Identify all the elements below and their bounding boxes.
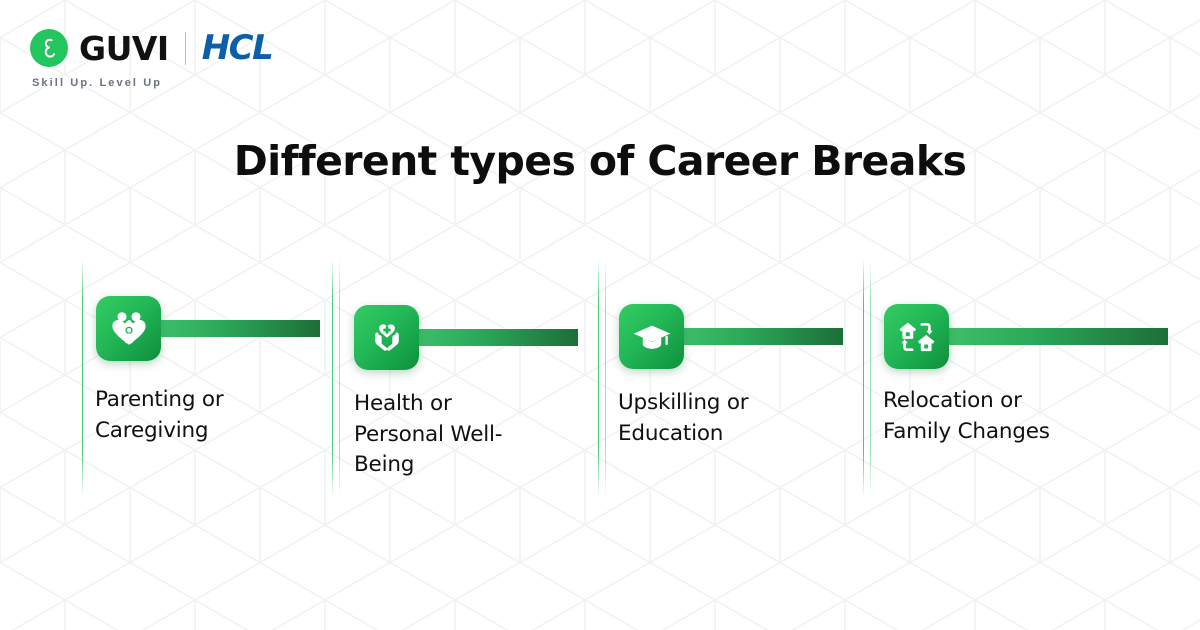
guvi-g-circle-icon xyxy=(30,29,68,67)
item-label-line: Upskilling or xyxy=(618,388,838,419)
column-divider-secondary xyxy=(605,258,606,498)
relocation-two-houses-arrows-icon xyxy=(884,304,949,369)
item-label-line: Relocation or xyxy=(883,386,1133,417)
column-divider xyxy=(332,258,333,498)
family-parenting-heart-icon xyxy=(96,296,161,361)
item-label-line: Personal Well- xyxy=(354,420,554,451)
item-label-line: Being xyxy=(354,450,554,481)
brand-header: GUVI HCL Skill Up. Level Up xyxy=(30,26,272,89)
item-icon-row xyxy=(96,296,320,361)
item-label: Parenting or Caregiving xyxy=(95,385,320,446)
item-label-line: Education xyxy=(618,419,838,450)
item-label: Relocation or Family Changes xyxy=(883,386,1133,447)
column-divider xyxy=(82,258,83,498)
career-break-types-list: Parenting or Caregiving xyxy=(0,0,1200,630)
hcl-wordmark: HCL xyxy=(202,31,273,65)
item-icon-row xyxy=(884,304,1168,369)
item-label: Upskilling or Education xyxy=(618,388,838,449)
item-bar xyxy=(680,328,843,345)
graduation-cap-icon xyxy=(619,304,684,369)
logo-divider xyxy=(185,32,186,65)
item-label-line: Parenting or xyxy=(95,385,320,416)
column-divider xyxy=(598,258,599,498)
item-label-line: Health or xyxy=(354,389,554,420)
column-divider xyxy=(863,258,864,498)
infographic-canvas: GUVI HCL Skill Up. Level Up Different ty… xyxy=(0,0,1200,630)
item-label-line: Family Changes xyxy=(883,417,1133,448)
item-label: Health or Personal Well- Being xyxy=(354,389,554,481)
column-divider-secondary xyxy=(339,258,340,498)
brand-tagline: Skill Up. Level Up xyxy=(32,77,272,89)
item-bar xyxy=(157,320,320,337)
item-bar xyxy=(945,328,1168,345)
guvi-wordmark: GUVI xyxy=(79,32,169,65)
column-divider-secondary xyxy=(870,258,871,498)
page-title: Different types of Career Breaks xyxy=(0,139,1200,184)
item-icon-row xyxy=(354,305,578,370)
hands-holding-heart-medical-cross-icon xyxy=(354,305,419,370)
logo-lockup: GUVI HCL xyxy=(30,26,272,70)
item-icon-row xyxy=(619,304,843,369)
item-bar xyxy=(415,329,578,346)
item-label-line: Caregiving xyxy=(95,416,320,447)
